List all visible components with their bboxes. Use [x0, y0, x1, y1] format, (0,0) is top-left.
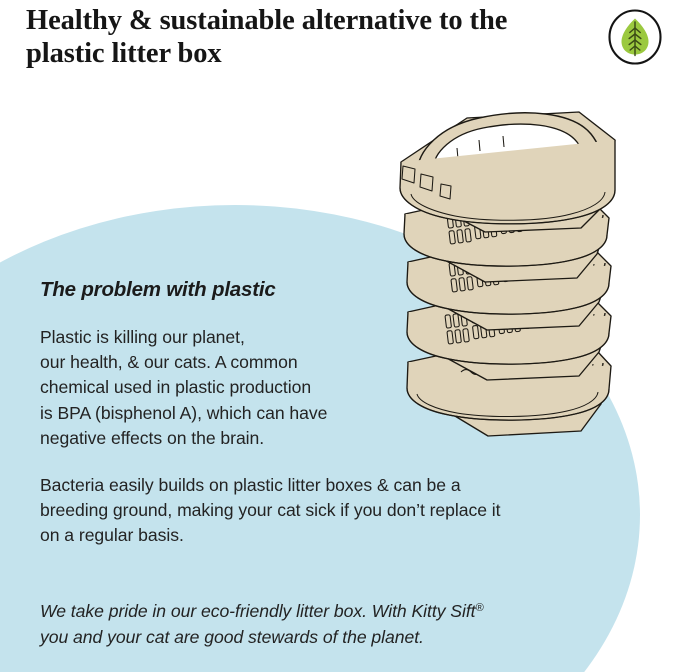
leaf-icon: [607, 9, 663, 65]
leaf-in-circle-logo: [607, 9, 663, 65]
registered-trademark-symbol: ®: [476, 602, 484, 614]
paragraph-eco-pride-text-after: you and your cat are good stewards of th…: [40, 627, 424, 647]
paragraph-bacteria: Bacteria easily builds on plastic litter…: [40, 473, 570, 549]
infographic-page: Healthy & sustainable alternative to the…: [0, 0, 679, 672]
paragraph-plastic-health: Plastic is killing our planet, our healt…: [40, 325, 410, 451]
main-content: The problem with plastic Plastic is kill…: [0, 0, 679, 672]
header: Healthy & sustainable alternative to the…: [0, 0, 679, 90]
page-title: Healthy & sustainable alternative to the…: [26, 4, 566, 70]
paragraph-eco-pride: We take pride in our eco-friendly litter…: [40, 569, 550, 650]
section-heading-problem-with-plastic: The problem with plastic: [40, 278, 276, 302]
paragraph-eco-pride-text-before: We take pride in our eco-friendly litter…: [40, 601, 476, 621]
